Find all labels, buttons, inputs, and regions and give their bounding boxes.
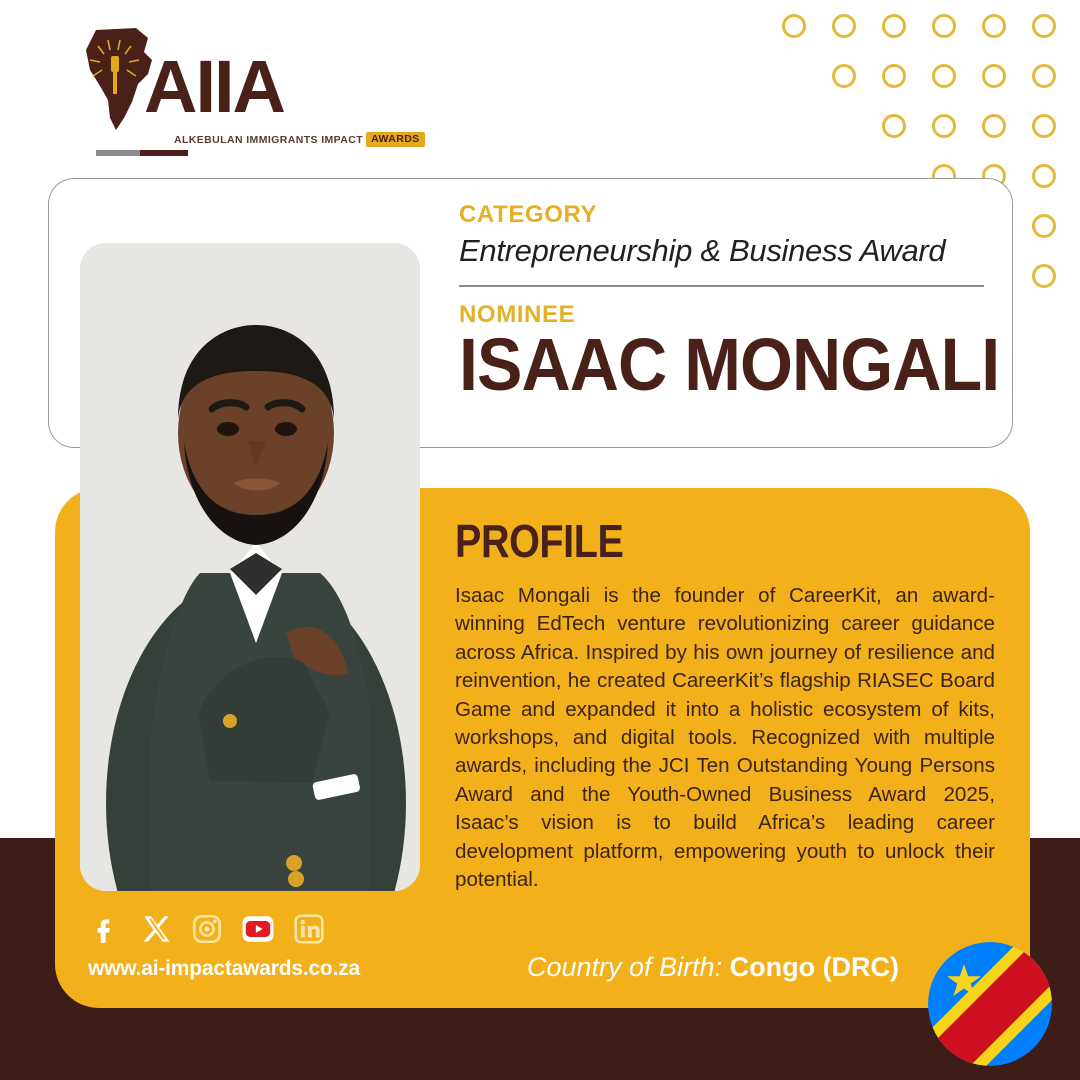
instagram-icon[interactable] <box>190 912 224 946</box>
portrait-illustration <box>80 243 420 891</box>
youtube-icon[interactable] <box>241 912 275 946</box>
linkedin-icon[interactable] <box>292 912 326 946</box>
country-flag-badge <box>928 942 1052 1066</box>
congo-drc-flag-icon <box>928 942 1052 1066</box>
country-of-birth-value: Congo (DRC) <box>730 952 899 982</box>
category-label: CATEGORY <box>459 201 984 229</box>
social-links <box>88 912 326 946</box>
brand-logo: AIIA ALKEBULAN IMMIGRANTS IMPACT AWARDS <box>78 26 378 150</box>
logo-underline <box>96 150 188 156</box>
nominee-name: ISAAC MONGALI <box>459 331 942 399</box>
facebook-icon[interactable] <box>88 912 122 946</box>
country-of-birth: Country of Birth: Congo (DRC) <box>527 952 899 983</box>
category-value: Entrepreneurship & Business Award <box>459 233 984 269</box>
logo-wordmark: AIIA <box>144 50 284 124</box>
x-twitter-icon[interactable] <box>139 912 173 946</box>
card-divider <box>459 285 984 287</box>
profile-text: Isaac Mongali is the founder of CareerKi… <box>455 582 995 894</box>
logo-tagline: ALKEBULAN IMMIGRANTS IMPACT AWARDS <box>174 132 425 147</box>
profile-section: PROFILE Isaac Mongali is the founder of … <box>455 518 995 894</box>
country-of-birth-label: Country of Birth: <box>527 952 722 982</box>
logo-tagline-prefix: ALKEBULAN IMMIGRANTS IMPACT <box>174 134 363 146</box>
website-url[interactable]: www.ai-impactawards.co.za <box>88 957 360 981</box>
profile-title: PROFILE <box>455 518 919 564</box>
logo-tagline-awards: AWARDS <box>366 132 425 147</box>
nominee-portrait <box>80 243 420 891</box>
